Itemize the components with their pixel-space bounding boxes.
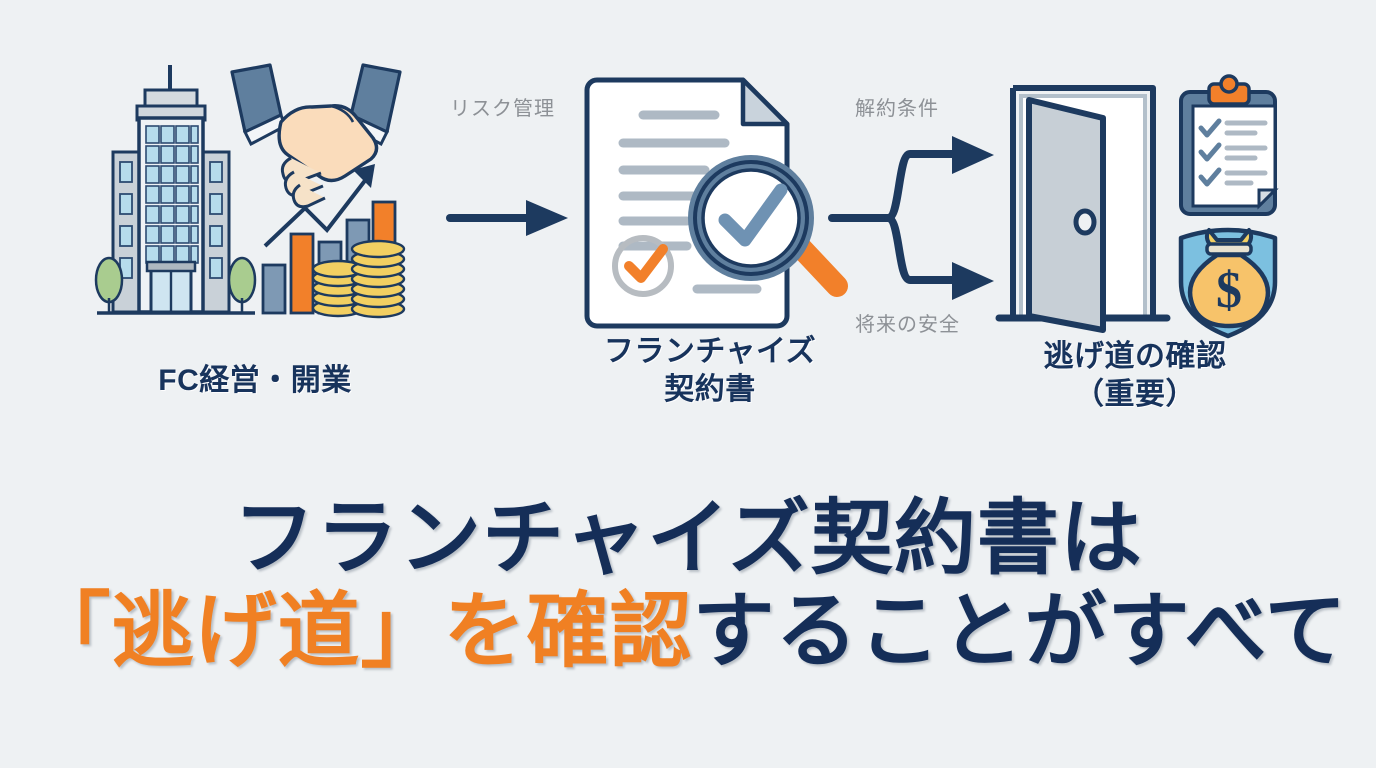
tree-icon-right [229, 258, 255, 312]
node-escape-route: $ 逃げ道の確認 （重要） [985, 70, 1285, 413]
arrow-right-icon-1 [448, 190, 573, 246]
clipboard-checklist-icon [1181, 76, 1275, 214]
headline-open-bracket: 「 [28, 586, 111, 677]
headline: フランチャイズ契約書は 「逃げ道」を確認することがすべて [0, 492, 1376, 679]
office-building-icon [113, 65, 229, 312]
node-caption-franchise-contract: フランチャイズ 契約書 [565, 333, 855, 408]
headline-tail: することがすべて [693, 586, 1348, 677]
open-door-icon [999, 88, 1167, 330]
magnifier-check-icon [695, 162, 837, 286]
headline-line-2: 「逃げ道」を確認することがすべて [0, 585, 1376, 678]
node-fc-business: FC経営・開業 [95, 60, 415, 400]
node-caption-escape-route: 逃げ道の確認 （重要） [985, 338, 1285, 413]
poster-canvas: FC経営・開業 リスク管理 [0, 0, 1376, 768]
escape-route-illustration: $ [985, 70, 1285, 340]
headline-highlight: 逃げ道 [111, 586, 360, 677]
svg-text:$: $ [1216, 262, 1242, 319]
fc-business-illustration [95, 60, 415, 360]
headline-close-bracket: 」 [361, 586, 444, 677]
money-bag-shield-icon: $ [1181, 230, 1275, 336]
process-diagram: FC経営・開業 リスク管理 [0, 0, 1376, 470]
node-franchise-contract: フランチャイズ 契約書 [565, 68, 855, 408]
edge-label-future-safety: 将来の安全 [855, 308, 960, 337]
edge-label-cancellation-terms: 解約条件 [855, 92, 939, 121]
edge-label-risk-management: リスク管理 [450, 92, 555, 121]
handshake-icon [232, 65, 400, 207]
node-caption-fc-business: FC経営・開業 [95, 362, 415, 400]
franchise-contract-illustration [565, 68, 855, 333]
headline-highlight-tail: を確認 [444, 586, 693, 677]
headline-line-1: フランチャイズ契約書は [233, 493, 1143, 584]
